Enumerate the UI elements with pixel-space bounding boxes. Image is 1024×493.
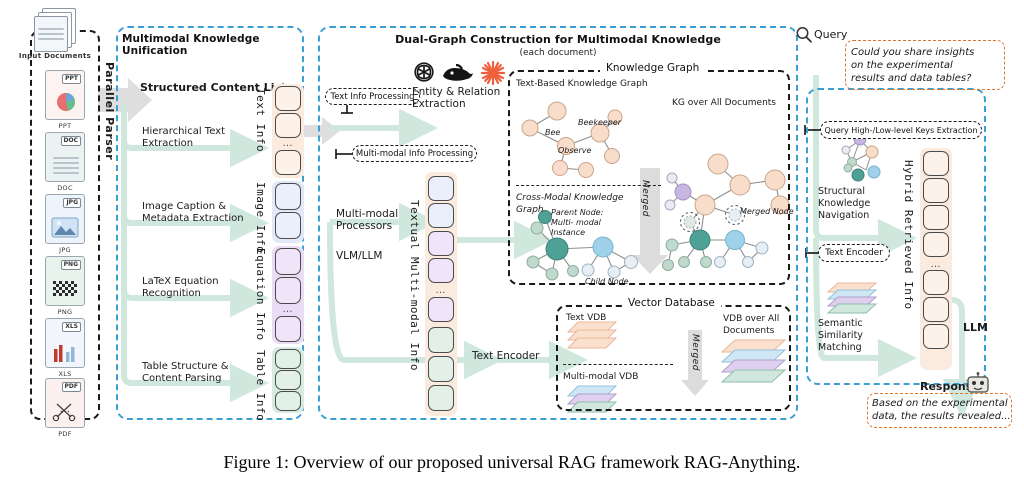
openai-icon xyxy=(412,60,436,84)
input-documents-stack-icon xyxy=(32,8,84,54)
unification-step-1: Hierarchical Text Extraction xyxy=(142,126,252,150)
response-icon xyxy=(965,372,991,394)
dots-equation-info: … xyxy=(275,304,301,315)
doc-tag-doc: DOC xyxy=(61,136,81,146)
dualgraph-panel-title: Dual-Graph Construction for Multimodal K… xyxy=(318,33,798,46)
unification-step-3: LaTeX Equation Recognition xyxy=(142,276,252,300)
document-icon-pdf: PDF xyxy=(45,378,85,428)
cell-equation-info-3 xyxy=(275,316,301,342)
cell-table-info-1 xyxy=(275,349,301,369)
cross-modal-kg-line2: Graph xyxy=(516,205,544,215)
response-text-line1: Based on the experimental xyxy=(872,398,1008,409)
cell-hybrid-2 xyxy=(923,178,949,203)
document-icon-jpg: JPG xyxy=(45,194,85,244)
cell-image-info-1 xyxy=(275,183,301,210)
kg-merged-node-label: Merged Node xyxy=(740,207,794,217)
kg-child-node-label: Child Node xyxy=(585,277,629,287)
cell-hybrid-1 xyxy=(923,151,949,176)
vlm-llm-label: VLM/LLM xyxy=(336,250,382,262)
semantic-match-line1: Semantic Similarity xyxy=(818,318,863,341)
cell-textual-equation-2 xyxy=(428,258,454,283)
cell-text-info-1 xyxy=(275,86,301,111)
query-text-line3: results and data tables? xyxy=(851,73,971,84)
cell-hybrid-5 xyxy=(923,270,949,295)
label-image-info: Image Info xyxy=(254,182,267,253)
multimodal-info-processing-label: Multi-modal Info Processing xyxy=(356,149,473,159)
semantic-match-line2: Matching xyxy=(818,342,862,353)
document-caption-png: PNG xyxy=(35,308,95,316)
input-documents-title: Input Documents xyxy=(5,52,105,60)
retrieval-text-encoder-label: Text Encoder xyxy=(825,248,883,258)
cell-hybrid-4 xyxy=(923,232,949,257)
text-based-kg-label: Text-Based Knowledge Graph xyxy=(516,78,648,90)
document-caption-ppt: PPT xyxy=(35,122,95,130)
document-icon-png: PNG xyxy=(45,256,85,306)
cell-textual-equation-1 xyxy=(428,231,454,256)
pie-chart-icon xyxy=(46,89,86,115)
label-table-info: Table Info xyxy=(254,350,267,421)
label-hybrid-retrieved-info: Hybrid Retrieved Info xyxy=(902,160,915,310)
unification-step-4: Table Structure & Content Parsing xyxy=(142,361,252,385)
checker-icon xyxy=(51,279,81,301)
cell-textual-table-2 xyxy=(428,356,454,382)
deepseek-whale-icon xyxy=(440,61,474,85)
query-label: Query xyxy=(814,29,847,41)
kg-merged-label: Merged xyxy=(640,180,650,217)
semantic-similarity-matching-label: Semantic Similarity Matching xyxy=(818,318,898,354)
document-icon-ppt: PPT xyxy=(45,70,85,120)
unification-step-4-text: Table Structure & Content Parsing xyxy=(142,361,229,384)
multimodal-processors-line1: Multi-modal xyxy=(336,208,398,220)
multimodal-processors-label: Multi-modal Processors xyxy=(336,208,416,232)
llm-vendor-icons xyxy=(412,60,522,84)
document-caption-xls: XLS xyxy=(35,370,95,378)
query-icon xyxy=(795,26,813,44)
cross-modal-kg-line1: Cross-Modal Knowledge xyxy=(516,193,623,203)
cell-text-info-3 xyxy=(275,150,301,175)
document-caption-doc: DOC xyxy=(35,184,95,192)
unification-step-2-text: Image Caption & Metadata Extraction xyxy=(142,201,244,224)
query-text: Could you share insights on the experime… xyxy=(851,46,1003,85)
doc-tag-pdf: PDF xyxy=(62,382,81,392)
label-text-info: Text Info xyxy=(254,88,267,152)
text-lines-icon xyxy=(53,157,79,177)
response-text-line2: data, the results revealed... xyxy=(872,411,1011,422)
text-encoder-label: Text Encoder xyxy=(472,350,540,362)
figure-caption: Figure 1: Overview of our proposed unive… xyxy=(0,452,1024,473)
cell-hybrid-7 xyxy=(923,324,949,349)
bar-chart-icon xyxy=(52,343,82,365)
vdb-inner-divider xyxy=(563,364,673,365)
query-keys-extraction-label: Query High-/Low-level Keys Extraction xyxy=(824,126,977,135)
vdb-merged-label: Merged xyxy=(690,334,700,371)
cell-table-info-2 xyxy=(275,370,301,390)
llm-label: LLM xyxy=(963,322,988,334)
kg-parent-node-label: Parent Node: Multi- modal Instance xyxy=(551,208,623,238)
kg-node-label-observe: Observe xyxy=(558,146,591,156)
unification-step-1-text: Hierarchical Text Extraction xyxy=(142,126,225,149)
cell-text-info-2 xyxy=(275,113,301,138)
document-caption-jpg: JPG xyxy=(35,246,95,254)
structural-nav-line2: Navigation xyxy=(818,210,869,221)
claude-burst-icon xyxy=(480,60,506,86)
kg-over-all-documents-label: KG over All Documents xyxy=(672,97,776,109)
dots-text-info-visible: … xyxy=(275,138,301,149)
doc-tag-jpg: JPG xyxy=(63,198,81,208)
cell-equation-info-2 xyxy=(275,277,301,304)
cell-table-info-3 xyxy=(275,391,301,411)
entity-relation-extraction-label: Entity & Relation Extraction xyxy=(412,86,522,110)
kg-node-label-bee: Bee xyxy=(545,128,560,138)
vdb-over-all-line1: VDB over All xyxy=(723,314,779,324)
text-vdb-label: Text VDB xyxy=(566,312,606,324)
cell-textual-table-3 xyxy=(428,385,454,411)
label-equation-info: Equation Info xyxy=(254,248,267,341)
vector-database-title: Vector Database xyxy=(622,297,721,309)
cell-equation-info-1 xyxy=(275,248,301,275)
cell-textual-equation-3 xyxy=(428,297,454,322)
document-caption-pdf: PDF xyxy=(35,430,95,438)
label-textual-multimodal-info: Textual Multi-modal Info xyxy=(408,200,421,371)
cell-hybrid-3 xyxy=(923,205,949,230)
cell-image-info-2 xyxy=(275,212,301,239)
dots-hybrid-retrieved: … xyxy=(923,259,949,270)
vdb-over-all-documents-label: VDB over All Documents xyxy=(723,313,789,337)
multimodal-processors-line2: Processors xyxy=(336,220,392,232)
cell-textual-image-1 xyxy=(428,176,454,201)
query-text-line1: Could you share insights xyxy=(851,47,974,58)
cell-textual-image-2 xyxy=(428,203,454,228)
image-icon xyxy=(51,217,81,239)
unification-step-2: Image Caption & Metadata Extraction xyxy=(142,201,252,225)
doc-tag-xls: XLS xyxy=(62,322,81,332)
cell-textual-table-1 xyxy=(428,327,454,353)
knowledge-graph-title: Knowledge Graph xyxy=(600,62,705,74)
query-text-line2: on the experimental xyxy=(851,60,953,71)
response-text: Based on the experimental data, the resu… xyxy=(872,397,1012,423)
parallel-parser-label: Parallel Parser xyxy=(103,62,116,160)
dots-textual-multimodal: … xyxy=(428,285,454,296)
structural-knowledge-navigation-label: Structural Knowledge Navigation xyxy=(818,186,898,222)
query-keys-extraction-pill: Query High-/Low-level Keys Extraction xyxy=(820,121,982,139)
magnifier-icon xyxy=(795,26,813,44)
retrieval-text-encoder-pill: Text Encoder xyxy=(818,244,890,262)
robot-icon xyxy=(965,372,991,394)
doc-tag-ppt: PPT xyxy=(62,74,81,84)
text-info-processing-label: Text Info Processing xyxy=(330,92,414,102)
document-icon-doc: DOC xyxy=(45,132,85,182)
entity-relation-line2: Extraction xyxy=(412,98,466,110)
doc-tag-png: PNG xyxy=(61,260,81,270)
figure-canvas: Input Documents PPT PPT DOC DOC JPG JPG … xyxy=(0,0,1024,448)
multimodal-vdb-label: Multi-modal VDB xyxy=(563,371,638,383)
text-info-processing-pill: Text Info Processing xyxy=(325,88,420,105)
multimodal-info-processing-pill: Multi-modal Info Processing xyxy=(352,145,477,162)
structural-nav-line1: Structural Knowledge xyxy=(818,186,870,209)
unification-panel-title: Multimodal Knowledge Unification xyxy=(122,33,302,57)
kg-node-label-beekeeper: Beekeeper xyxy=(578,118,621,128)
vdb-over-all-line2: Documents xyxy=(723,326,774,336)
unification-step-3-text: LaTeX Equation Recognition xyxy=(142,276,219,299)
dualgraph-panel-subtitle: (each document) xyxy=(318,48,798,58)
cell-hybrid-6 xyxy=(923,297,949,322)
input-documents-ellipsis: ... xyxy=(35,404,95,415)
entity-relation-line1: Entity & Relation xyxy=(412,86,500,98)
document-icon-xls: XLS xyxy=(45,318,85,368)
